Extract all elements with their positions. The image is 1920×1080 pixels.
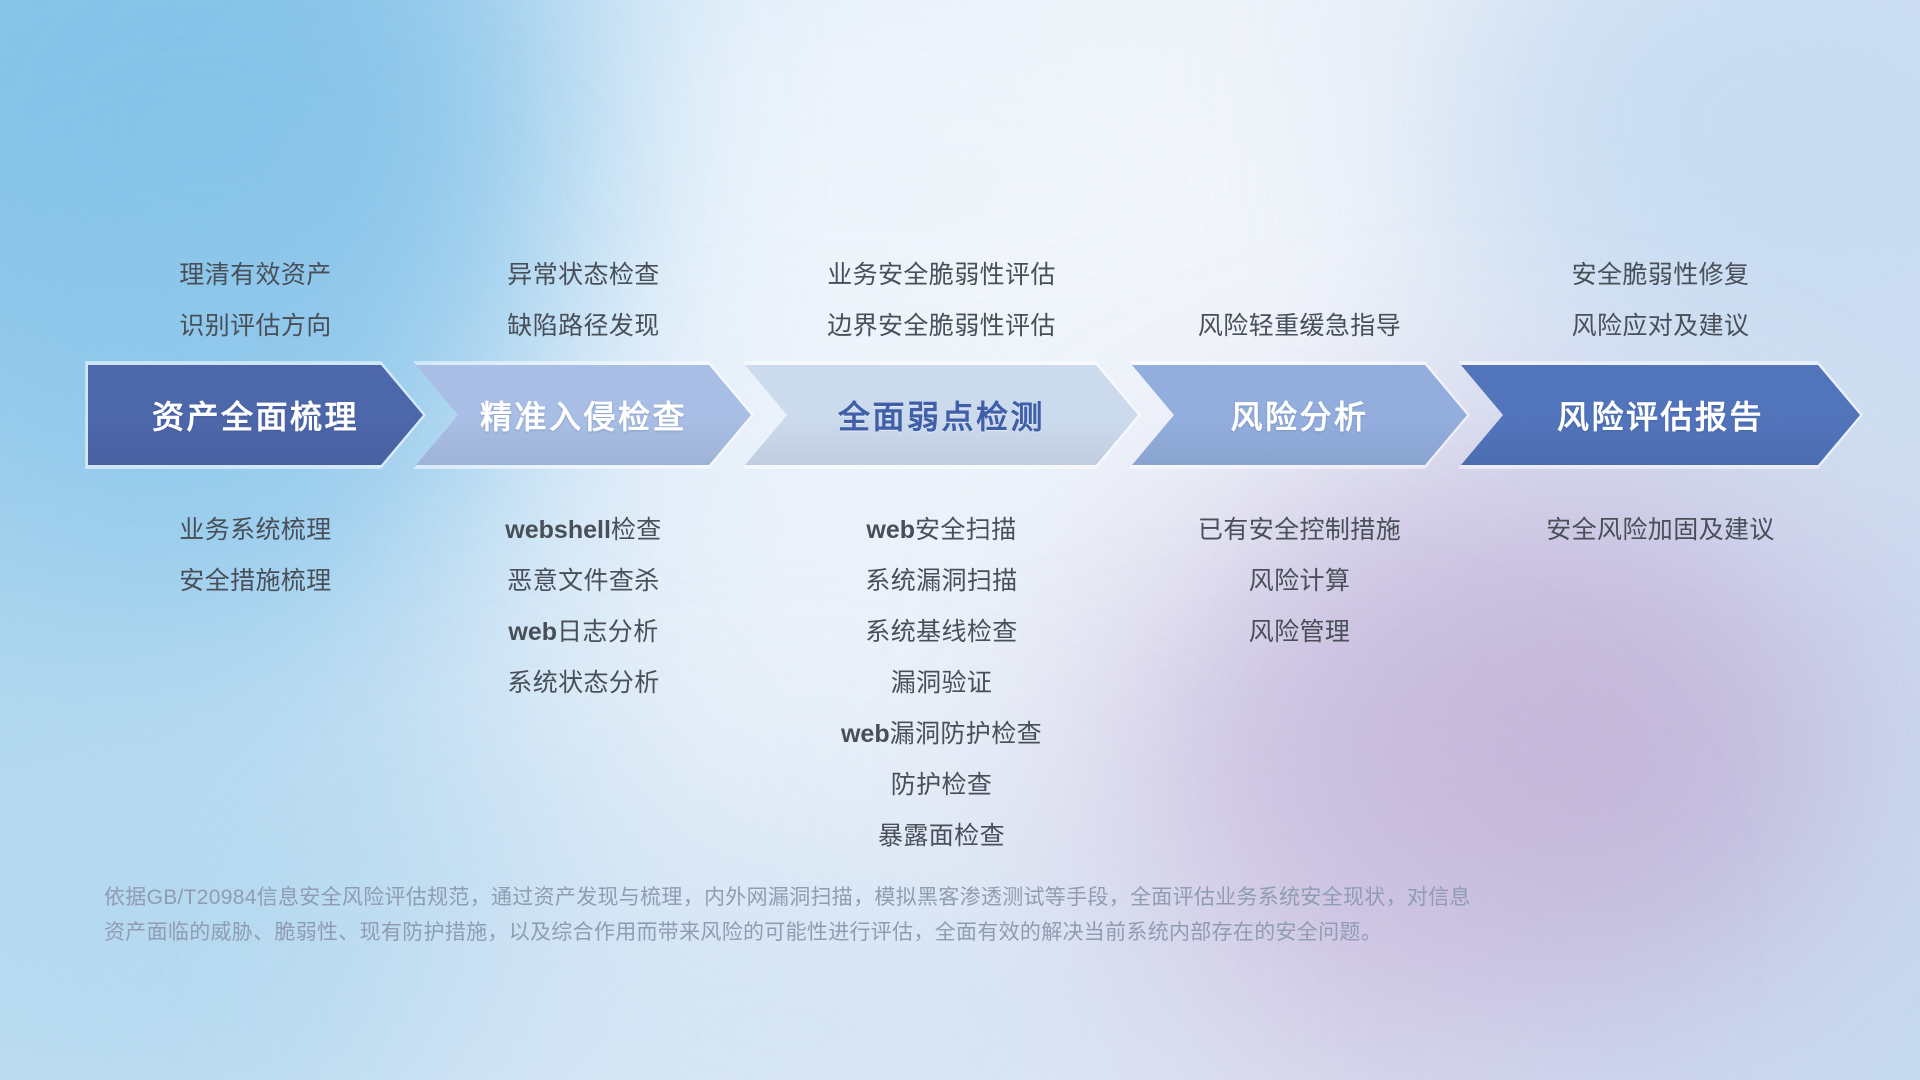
top-labels-row: 理清有效资产识别评估方向异常状态检查缺陷路径发现业务安全脆弱性评估边界安全脆弱性… bbox=[0, 222, 1920, 352]
stage-top-label: 缺陷路径发现 bbox=[507, 301, 659, 352]
stage-top-label: 风险轻重缓急指导 bbox=[1198, 301, 1401, 352]
stage-bottom-label: 恶意文件查杀 bbox=[505, 556, 661, 607]
stage-top-labels-risk-report: 安全脆弱性修复风险应对及建议 bbox=[1572, 250, 1750, 352]
stage-bottom-label: 风险管理 bbox=[1198, 607, 1401, 658]
stage-arrow-asset-inventory[interactable]: 资产全面梳理 bbox=[88, 365, 423, 465]
stage-bottom-label: 系统状态分析 bbox=[505, 658, 661, 709]
stage-top-labels-risk-analysis: 风险轻重缓急指导 bbox=[1198, 301, 1401, 352]
stage-arrow-title: 全面弱点检测 bbox=[838, 392, 1045, 438]
stage-bottom-label: 业务系统梳理 bbox=[179, 505, 331, 556]
stage-top-label: 风险应对及建议 bbox=[1572, 301, 1750, 352]
stage-bottom-labels-asset-inventory: 业务系统梳理安全措施梳理 bbox=[179, 505, 331, 607]
stage-bottom-labels-risk-analysis: 已有安全控制措施风险计算风险管理 bbox=[1198, 505, 1401, 658]
stage-bottom-label: webshell检查 bbox=[505, 505, 661, 556]
stage-arrow-intrusion-check[interactable]: 精准入侵检查 bbox=[416, 365, 751, 465]
stage-arrow-title: 风险评估报告 bbox=[1557, 392, 1764, 438]
stage-arrow-weakness-detection[interactable]: 全面弱点检测 bbox=[745, 365, 1138, 465]
process-diagram: 理清有效资产识别评估方向异常状态检查缺陷路径发现业务安全脆弱性评估边界安全脆弱性… bbox=[0, 0, 1920, 1080]
stage-top-label: 安全脆弱性修复 bbox=[1572, 250, 1750, 301]
stage-bottom-label: 防护检查 bbox=[841, 760, 1042, 811]
stage-bottom-label: 系统漏洞扫描 bbox=[841, 556, 1042, 607]
latin-run: web bbox=[508, 618, 557, 646]
stage-bottom-label: web日志分析 bbox=[505, 607, 661, 658]
stage-bottom-label: 已有安全控制措施 bbox=[1198, 505, 1401, 556]
stage-bottom-labels-intrusion-check: webshell检查恶意文件查杀web日志分析系统状态分析 bbox=[505, 505, 661, 709]
stage-bottom-labels-weakness-detection: web安全扫描系统漏洞扫描系统基线检查漏洞验证web漏洞防护检查防护检查暴露面检… bbox=[841, 505, 1042, 862]
stage-top-labels-weakness-detection: 业务安全脆弱性评估边界安全脆弱性评估 bbox=[827, 250, 1056, 352]
footer-line: 资产面临的威胁、脆弱性、现有防护措施，以及综合作用而带来风险的可能性进行评估，全… bbox=[104, 915, 1614, 950]
stage-top-label: 异常状态检查 bbox=[507, 250, 659, 301]
stage-arrow-band: 资产全面梳理精准入侵检查全面弱点检测风险分析风险评估报告 bbox=[88, 365, 1860, 465]
bottom-labels-row: 业务系统梳理安全措施梳理webshell检查恶意文件查杀web日志分析系统状态分… bbox=[0, 505, 1920, 865]
stage-bottom-label: 漏洞验证 bbox=[841, 658, 1042, 709]
stage-bottom-label: 系统基线检查 bbox=[841, 607, 1042, 658]
stage-arrow-title: 资产全面梳理 bbox=[152, 392, 359, 438]
stage-top-label: 边界安全脆弱性评估 bbox=[827, 301, 1056, 352]
stage-bottom-label: web漏洞防护检查 bbox=[841, 709, 1042, 760]
stage-top-label: 理清有效资产 bbox=[179, 250, 331, 301]
footer-line: 依据GB/T20984信息安全风险评估规范，通过资产发现与梳理，内外网漏洞扫描，… bbox=[104, 880, 1614, 915]
stage-bottom-label: 风险计算 bbox=[1198, 556, 1401, 607]
latin-run: web bbox=[866, 516, 915, 544]
stage-arrow-title: 风险分析 bbox=[1230, 392, 1368, 438]
stage-arrow-risk-analysis[interactable]: 风险分析 bbox=[1132, 365, 1467, 465]
footer-description: 依据GB/T20984信息安全风险评估规范，通过资产发现与梳理，内外网漏洞扫描，… bbox=[104, 880, 1614, 950]
stage-bottom-label: web安全扫描 bbox=[841, 505, 1042, 556]
stage-bottom-label: 安全措施梳理 bbox=[179, 556, 331, 607]
stage-top-label: 识别评估方向 bbox=[179, 301, 331, 352]
stage-bottom-label: 暴露面检查 bbox=[841, 811, 1042, 862]
stage-arrow-title: 精准入侵检查 bbox=[480, 392, 687, 438]
stage-top-labels-asset-inventory: 理清有效资产识别评估方向 bbox=[179, 250, 331, 352]
latin-run: webshell bbox=[505, 516, 611, 544]
stage-top-labels-intrusion-check: 异常状态检查缺陷路径发现 bbox=[507, 250, 659, 352]
stage-bottom-labels-risk-report: 安全风险加固及建议 bbox=[1546, 505, 1775, 556]
stage-bottom-label: 安全风险加固及建议 bbox=[1546, 505, 1775, 556]
latin-run: web bbox=[841, 720, 890, 748]
stage-arrow-risk-report[interactable]: 风险评估报告 bbox=[1461, 365, 1860, 465]
stage-top-label: 业务安全脆弱性评估 bbox=[827, 250, 1056, 301]
